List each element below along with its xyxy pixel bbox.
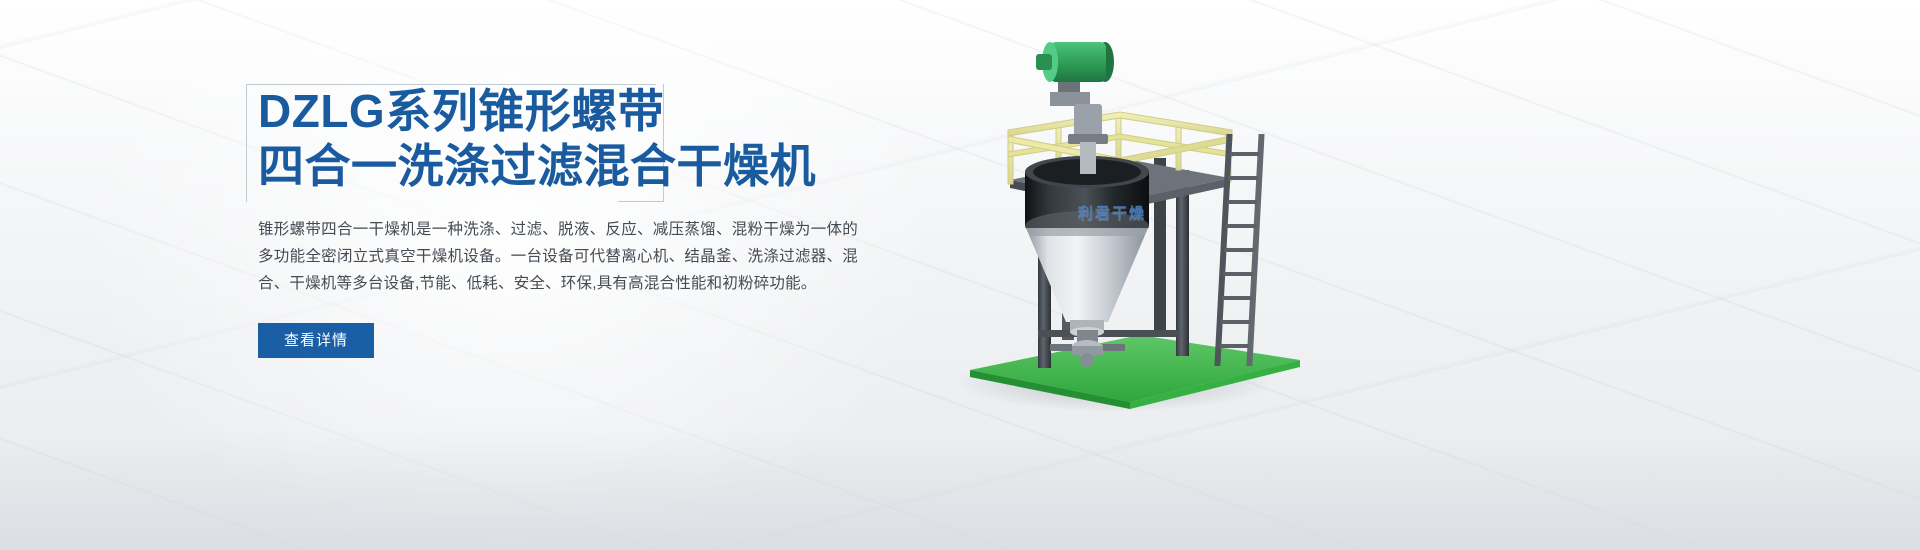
hero-copy-block: DZLG系列锥形螺带 四合一洗涤过滤混合干燥机 锥形螺带四合一干燥机是一种洗涤、… [258, 84, 878, 358]
hero-banner: DZLG系列锥形螺带 四合一洗涤过滤混合干燥机 锥形螺带四合一干燥机是一种洗涤、… [0, 0, 1920, 550]
access-ladder [1214, 134, 1264, 366]
product-illustration: 利君干燥 [930, 30, 1360, 430]
view-details-button[interactable]: 查看详情 [258, 323, 374, 358]
vessel-watermark: 利君干燥 [1078, 202, 1146, 223]
product-description: 锥形螺带四合一干燥机是一种洗涤、过滤、脱液、反应、减压蒸馏、混粉干燥为一体的多功… [258, 216, 858, 297]
background-bottom-shade [0, 430, 1920, 550]
headline-line-1: DZLG系列锥形螺带 [258, 84, 878, 139]
headline-line-2: 四合一洗涤过滤混合干燥机 [258, 139, 878, 194]
drive-motor [1036, 42, 1114, 106]
page-title: DZLG系列锥形螺带 四合一洗涤过滤混合干燥机 [258, 84, 878, 194]
